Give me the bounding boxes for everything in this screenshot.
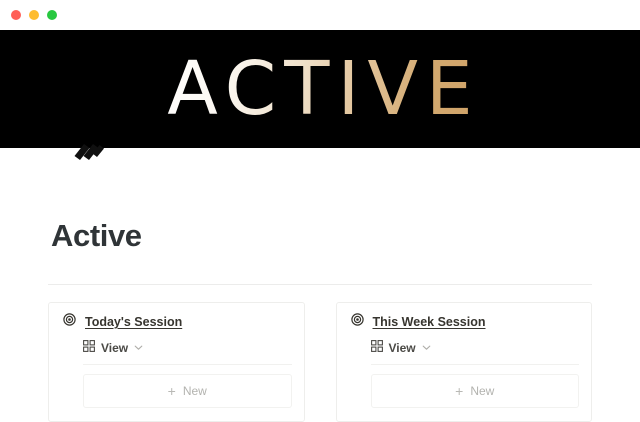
plus-icon: + (455, 384, 463, 398)
new-button-label: New (183, 384, 207, 398)
target-icon (63, 313, 76, 331)
maximize-window-button[interactable] (47, 10, 57, 20)
chevron-down-icon[interactable] (134, 339, 143, 357)
title-divider (48, 284, 592, 285)
logo-strip (0, 148, 640, 188)
traffic-lights (11, 10, 57, 20)
session-card[interactable]: This Week Session View (336, 302, 593, 422)
chevron-down-icon[interactable] (422, 339, 431, 357)
view-divider (371, 364, 580, 365)
new-button-label: New (470, 384, 494, 398)
diagonal-slashes-logo-icon[interactable] (64, 134, 110, 180)
hero-banner: ACTIVE (0, 30, 640, 148)
new-item-button[interactable]: + New (371, 374, 580, 408)
target-icon (351, 313, 364, 331)
card-title-link[interactable]: This Week Session (373, 315, 486, 329)
view-selector[interactable]: View (371, 339, 580, 357)
window-titlebar (0, 0, 640, 30)
session-card[interactable]: Today's Session View (48, 302, 305, 422)
card-row: Today's Session View (48, 302, 592, 422)
plus-icon: + (168, 384, 176, 398)
card-title-link[interactable]: Today's Session (85, 315, 182, 329)
grid-icon (83, 339, 95, 357)
hero-wordmark: ACTIVE (159, 52, 480, 126)
view-divider (83, 364, 292, 365)
card-header: Today's Session (61, 313, 292, 331)
view-label: View (101, 341, 128, 355)
minimize-window-button[interactable] (29, 10, 39, 20)
page-title: Active (51, 218, 592, 254)
page-body: Active Today's Session (0, 218, 640, 422)
view-label: View (389, 341, 416, 355)
view-selector[interactable]: View (83, 339, 292, 357)
close-window-button[interactable] (11, 10, 21, 20)
grid-icon (371, 339, 383, 357)
new-item-button[interactable]: + New (83, 374, 292, 408)
card-header: This Week Session (349, 313, 580, 331)
